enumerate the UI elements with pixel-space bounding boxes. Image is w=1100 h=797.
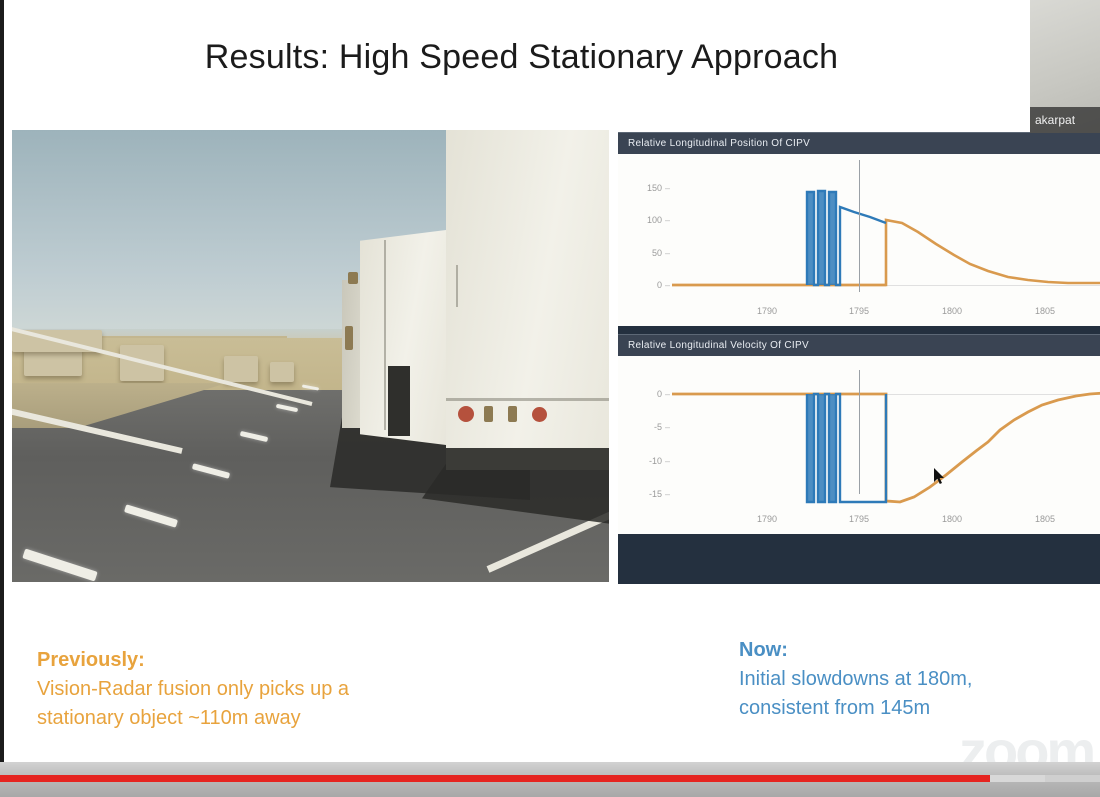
- progress-buffer: [990, 775, 1045, 782]
- presentation-slide: Results: High Speed Stationary Approach: [4, 0, 1100, 762]
- chart-velocity: Relative Longitudinal Velocity Of CIPV 0…: [618, 334, 1100, 534]
- video-player-bar[interactable]: [0, 762, 1100, 797]
- caption-previously: Previously: Vision-Radar fusion only pic…: [37, 646, 507, 733]
- roadside-rock: [270, 362, 294, 382]
- trailer-panel-seam: [384, 240, 386, 430]
- chart-cursor-line[interactable]: [859, 160, 860, 292]
- x-axis-tick: 1805: [1035, 514, 1055, 524]
- trailer-bottom-rail: [446, 398, 609, 401]
- caption-now: Now: Initial slowdowns at 180m, consiste…: [739, 636, 1079, 723]
- webcam-tile[interactable]: akarpat: [1030, 0, 1100, 133]
- series-baseline-line: [672, 220, 1100, 285]
- caption-previously-heading: Previously:: [37, 646, 507, 675]
- roadside-rock: [224, 356, 258, 382]
- trailer-underside: [446, 448, 609, 470]
- telemetry-charts-panel: Relative Longitudinal Position Of CIPV 1…: [618, 132, 1100, 584]
- chart-velocity-plot: 0 -5 -10 -15 1790: [618, 356, 1100, 534]
- trailer-reflector: [508, 406, 517, 422]
- cab-marker-light: [348, 272, 358, 284]
- caption-previously-line1: Vision-Radar fusion only picks up a: [37, 678, 349, 700]
- chart-velocity-title: Relative Longitudinal Velocity Of CIPV: [618, 334, 1100, 356]
- series-fusion-fill: [807, 394, 814, 502]
- progress-fill[interactable]: [0, 775, 990, 782]
- caption-now-line2: consistent from 145m: [739, 697, 930, 719]
- cab-marker-light: [345, 326, 353, 350]
- series-fusion-fill: [829, 394, 836, 502]
- x-axis-tick: 1790: [757, 306, 777, 316]
- chart-position: Relative Longitudinal Position Of CIPV 1…: [618, 132, 1100, 326]
- participant-name-label: akarpat: [1030, 107, 1100, 133]
- x-axis-tick: 1805: [1035, 306, 1055, 316]
- chart-position-plot: 150 100 50 0: [618, 154, 1100, 326]
- x-axis-tick: 1790: [757, 514, 777, 524]
- x-axis-tick: 1795: [849, 306, 869, 316]
- caption-previously-line2: stationary object ~110m away: [37, 707, 301, 729]
- chart-cursor-line[interactable]: [859, 370, 860, 494]
- x-axis-tick: 1800: [942, 306, 962, 316]
- trailer-taillight: [532, 407, 547, 422]
- caption-now-heading: Now:: [739, 636, 1079, 665]
- page-title: Results: High Speed Stationary Approach: [4, 38, 1039, 77]
- dashcam-video: [12, 130, 609, 582]
- trailer-reflector: [484, 406, 493, 422]
- x-axis-tick: 1795: [849, 514, 869, 524]
- caption-now-line1: Initial slowdowns at 180m,: [739, 668, 972, 690]
- series-fusion-fill: [807, 192, 814, 285]
- series-fusion-fill: [818, 191, 825, 285]
- mouse-pointer-icon: [934, 468, 946, 486]
- series-fusion-fill: [829, 192, 836, 285]
- trailer-taillight: [458, 406, 474, 422]
- x-axis-tick: 1800: [942, 514, 962, 524]
- trailer-panel-seam: [456, 265, 458, 307]
- screen-share-frame: Results: High Speed Stationary Approach: [0, 0, 1100, 762]
- chart-position-title: Relative Longitudinal Position Of CIPV: [618, 132, 1100, 154]
- series-fusion-fill: [818, 394, 825, 502]
- mud-flap: [388, 366, 410, 436]
